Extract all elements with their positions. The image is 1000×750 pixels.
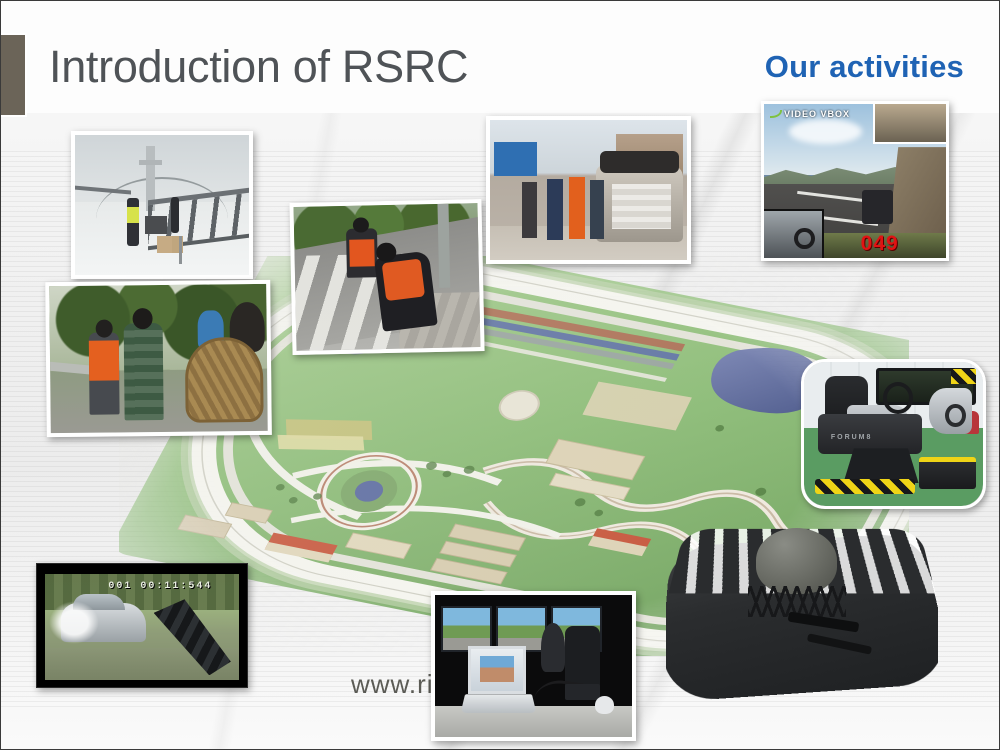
laptop-keyboard [460,694,536,712]
photo-video-vbox: VIDEO VBOX 049 [761,101,949,261]
crash-video-scene: 001 00:11:544 [37,564,247,687]
hexapod-scene [666,513,938,705]
pip-driver-view [764,209,824,258]
interviewee-striped-shirt [123,323,163,420]
projection-screen-left [441,606,492,651]
simulator-seat [565,626,600,688]
observer-2 [547,179,563,241]
video-vbox-logo-text: VIDEO VBOX [784,109,850,119]
motion-base [843,448,918,483]
instrument-case [145,216,168,234]
bridge-scene [75,135,249,275]
forum8-brand-text: FORUM8 [831,434,873,441]
steering-wheel [883,382,913,414]
observer-1 [522,182,538,238]
video-timecode-overlay: 001 00:11:544 [108,581,212,592]
title-accent-bar [1,33,27,117]
site-watermark: www.ri [351,669,434,700]
blue-shopfront [494,142,537,176]
observer-3 [590,180,604,239]
video-vbox-logo: VIDEO VBOX [770,109,850,119]
computer-mouse [595,696,615,714]
control-cabinet [919,457,976,489]
worker-kneeling [374,250,438,331]
photo-bridge-survey [71,131,253,279]
simroom-scene [435,595,632,737]
open-tailgate [600,151,679,173]
van-scene [490,120,687,260]
hazard-stripe-base [815,479,915,495]
section-subtitle: Our activities [765,49,964,85]
photo-hexapod-platform [666,513,938,705]
slide-root: Introduction of RSRC Our activities [0,0,1000,750]
laptop-screen [468,646,525,694]
hazard-stripe-upper [951,369,976,383]
measurement-equipment-rack [612,184,671,229]
worker-crouching [345,228,377,278]
cloud [789,119,862,144]
steering-wheel [794,228,815,250]
photo-simulator-control-room [431,591,636,741]
utility-pole [437,204,450,288]
engineer-hi-vis [127,198,139,246]
photo-crash-test-video: 001 00:11:544 [36,563,248,688]
interview-scene [49,284,268,433]
page-title: Introduction of RSRC [49,41,468,93]
vbox-scene: VIDEO VBOX 049 [764,104,946,258]
vbox-leaf-icon [770,110,782,118]
lead-vehicle [862,190,893,224]
equipment-crate [157,236,173,253]
crosswalk-scene [294,203,481,351]
data-acquisition-box [565,684,600,700]
photo-forum8-simulator: FORUM8 [801,359,986,509]
survey-tripod [179,236,182,264]
engineer-dark-coat [171,197,180,233]
worker-orange-vest [569,177,585,239]
photo-crosswalk-survey [289,199,484,355]
projection-screen-center [496,606,547,651]
instrument-pod [929,388,972,434]
photo-interview-survey [45,280,272,437]
surveyor-in-vest [89,332,120,415]
impact-spray [49,601,99,643]
woven-carrying-basket [184,337,263,423]
photo-mobile-lab-van [486,116,691,264]
forum8-scene: FORUM8 [804,362,983,506]
projection-dome-cabin [756,528,838,593]
speed-readout: 049 [861,232,899,256]
pip-rear-view [873,104,946,144]
driver-in-rig [541,623,565,671]
